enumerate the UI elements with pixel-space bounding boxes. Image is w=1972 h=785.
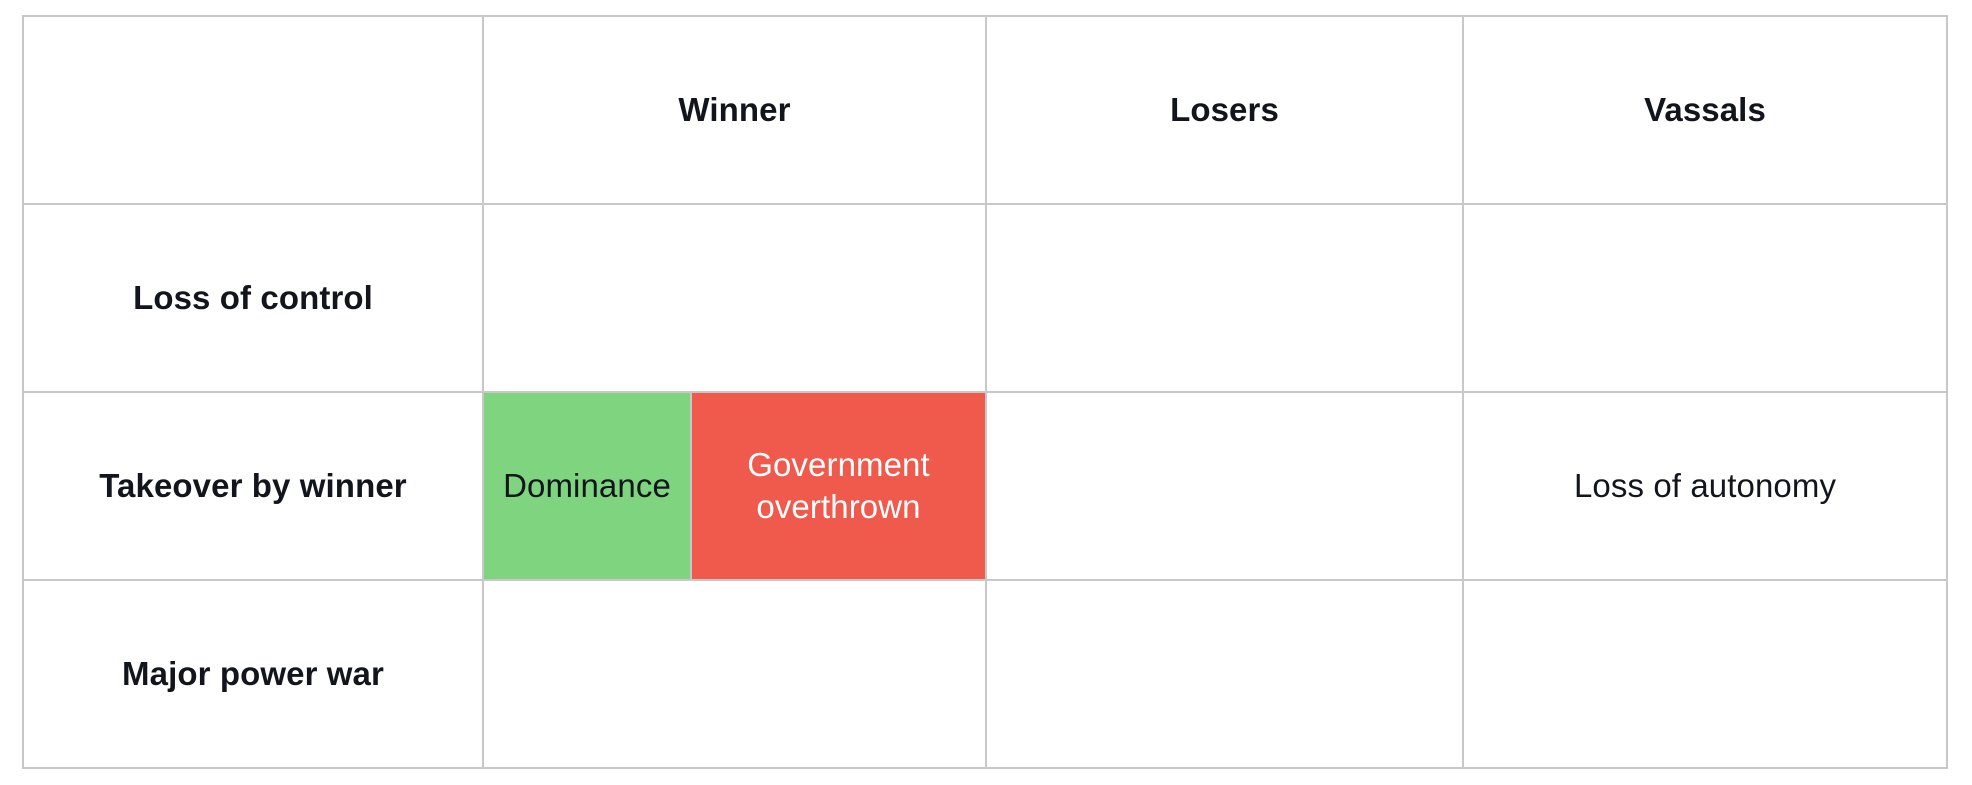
row-header-loss-of-control: Loss of control (23, 204, 483, 392)
table-row: Major power war Massive damage Massive d… (23, 580, 1947, 768)
row-header-major-power-war: Major power war (23, 580, 483, 768)
column-header-vassals: Vassals (1463, 16, 1947, 204)
cell-major-power-war-vassals-text: Massive damage (1464, 653, 1946, 695)
column-header-vassals-label: Vassals (1464, 91, 1946, 129)
risk-matrix-table: Winner Losers Vassals Loss of control Ca… (22, 15, 1948, 769)
cell-major-power-war-winner: Massive damage (483, 580, 986, 768)
cell-takeover-vassals: Loss of autonomy (1463, 392, 1947, 580)
row-header-loss-of-control-label: Loss of control (24, 279, 482, 317)
split-container: Dominance Government overthrown (484, 393, 985, 579)
cell-takeover-winner-government-overthrown-text: Government overthrown (692, 444, 985, 528)
cell-takeover-winner-government-overthrown: Government overthrown (690, 393, 985, 579)
cell-takeover-winner-split: Dominance Government overthrown (483, 392, 986, 580)
cell-loss-of-control-losers-text: Catastrophe (987, 277, 1462, 319)
risk-matrix-sheet: Winner Losers Vassals Loss of control Ca… (0, 0, 1972, 785)
cell-takeover-winner-dominance: Dominance (484, 393, 690, 579)
table-row: Takeover by winner Dominance Government … (23, 392, 1947, 580)
row-header-takeover-by-winner: Takeover by winner (23, 392, 483, 580)
table-row: Loss of control Catastrophe Catastrophe … (23, 204, 1947, 392)
cell-takeover-vassals-text: Loss of autonomy (1464, 465, 1946, 507)
cell-major-power-war-winner-text: Massive damage (484, 653, 985, 695)
cell-loss-of-control-vassals-text: Catastrophe (1464, 277, 1946, 319)
column-header-winner-label: Winner (484, 91, 985, 129)
table-header-row: Winner Losers Vassals (23, 16, 1947, 204)
cell-loss-of-control-winner: Catastrophe (483, 204, 986, 392)
cell-major-power-war-vassals: Massive damage (1463, 580, 1947, 768)
cell-loss-of-control-winner-text: Catastrophe (484, 277, 985, 319)
column-header-losers: Losers (986, 16, 1463, 204)
cell-loss-of-control-losers: Catastrophe (986, 204, 1463, 392)
corner-cell (23, 16, 483, 204)
row-header-takeover-by-winner-label: Takeover by winner (24, 467, 482, 505)
cell-loss-of-control-vassals: Catastrophe (1463, 204, 1947, 392)
column-header-winner: Winner (483, 16, 986, 204)
cell-takeover-losers: Total loss (986, 392, 1463, 580)
cell-takeover-winner-dominance-text: Dominance (493, 465, 681, 507)
row-header-major-power-war-label: Major power war (24, 655, 482, 693)
column-header-losers-label: Losers (987, 91, 1462, 129)
cell-major-power-war-losers: Massive damage (986, 580, 1463, 768)
cell-major-power-war-losers-text: Massive damage (987, 653, 1462, 695)
cell-takeover-losers-text: Total loss (987, 465, 1462, 507)
